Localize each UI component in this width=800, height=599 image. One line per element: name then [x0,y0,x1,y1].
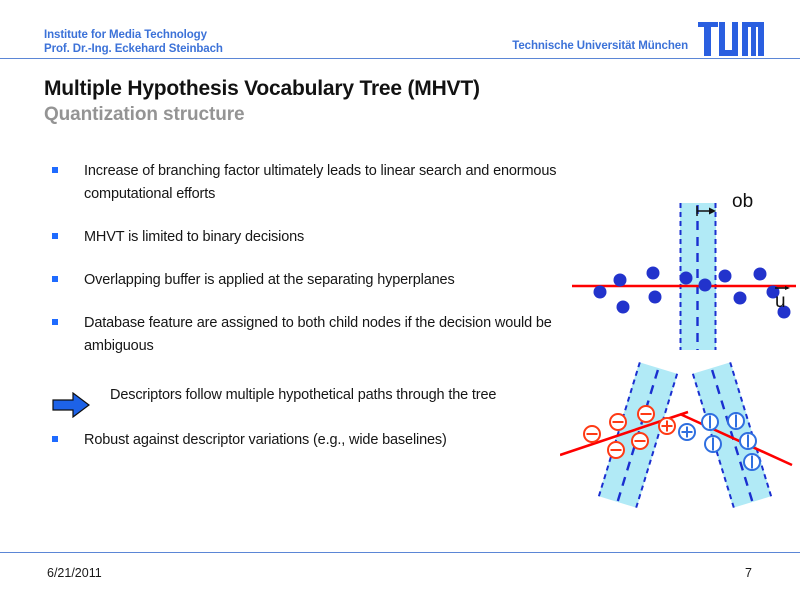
list-item-label: Descriptors follow multiple hypothetical… [110,387,496,403]
footer-page-number: 7 [745,566,752,580]
square-bullet-icon [52,167,58,173]
header-divider [0,58,800,59]
list-item-label: MHVT is limited to binary decisions [84,229,304,245]
square-bullet-icon [52,233,58,239]
square-bullet-icon [52,276,58,282]
footer-date: 6/21/2011 [47,566,102,580]
header-institute-line2: Prof. Dr.-Ing. Eckehard Steinbach [44,42,223,56]
list-item-label: Increase of branching factor ultimately … [84,163,556,202]
header-institute-block: Institute for Media Technology Prof. Dr.… [44,28,223,56]
list-item: MHVT is limited to binary decisions [44,226,564,249]
page-title: Multiple Hypothesis Vocabulary Tree (MHV… [44,77,480,101]
list-item-label: Overlapping buffer is applied at the sep… [84,272,455,288]
footer-divider [0,552,800,553]
list-item: Database feature are assigned to both ch… [44,312,564,358]
bullet-list: Increase of branching factor ultimately … [44,160,564,472]
right-child-group [692,362,771,508]
list-item: Robust against descriptor variations (e.… [44,429,564,452]
list-item-highlight: Descriptors follow multiple hypothetical… [44,384,564,407]
overlapping-buffer-diagram: ob u [560,185,800,360]
page-subtitle: Quantization structure [44,104,244,126]
header-institute-line1: Institute for Media Technology [44,28,223,42]
header-university-label: Technische Universität München [512,40,688,52]
list-item: Overlapping buffer is applied at the sep… [44,269,564,292]
list-item-label: Robust against descriptor variations (e.… [84,432,447,448]
square-bullet-icon [52,436,58,442]
list-item-label: Database feature are assigned to both ch… [84,315,552,354]
tum-logo [698,22,764,56]
right-arrow-icon [52,392,90,418]
svg-text:u: u [775,291,786,312]
slide: Institute for Media Technology Prof. Dr.… [0,0,800,599]
square-bullet-icon [52,319,58,325]
ob-label: ob [732,191,753,212]
child-node-split-diagram [560,360,800,520]
list-item: Increase of branching factor ultimately … [44,160,564,206]
